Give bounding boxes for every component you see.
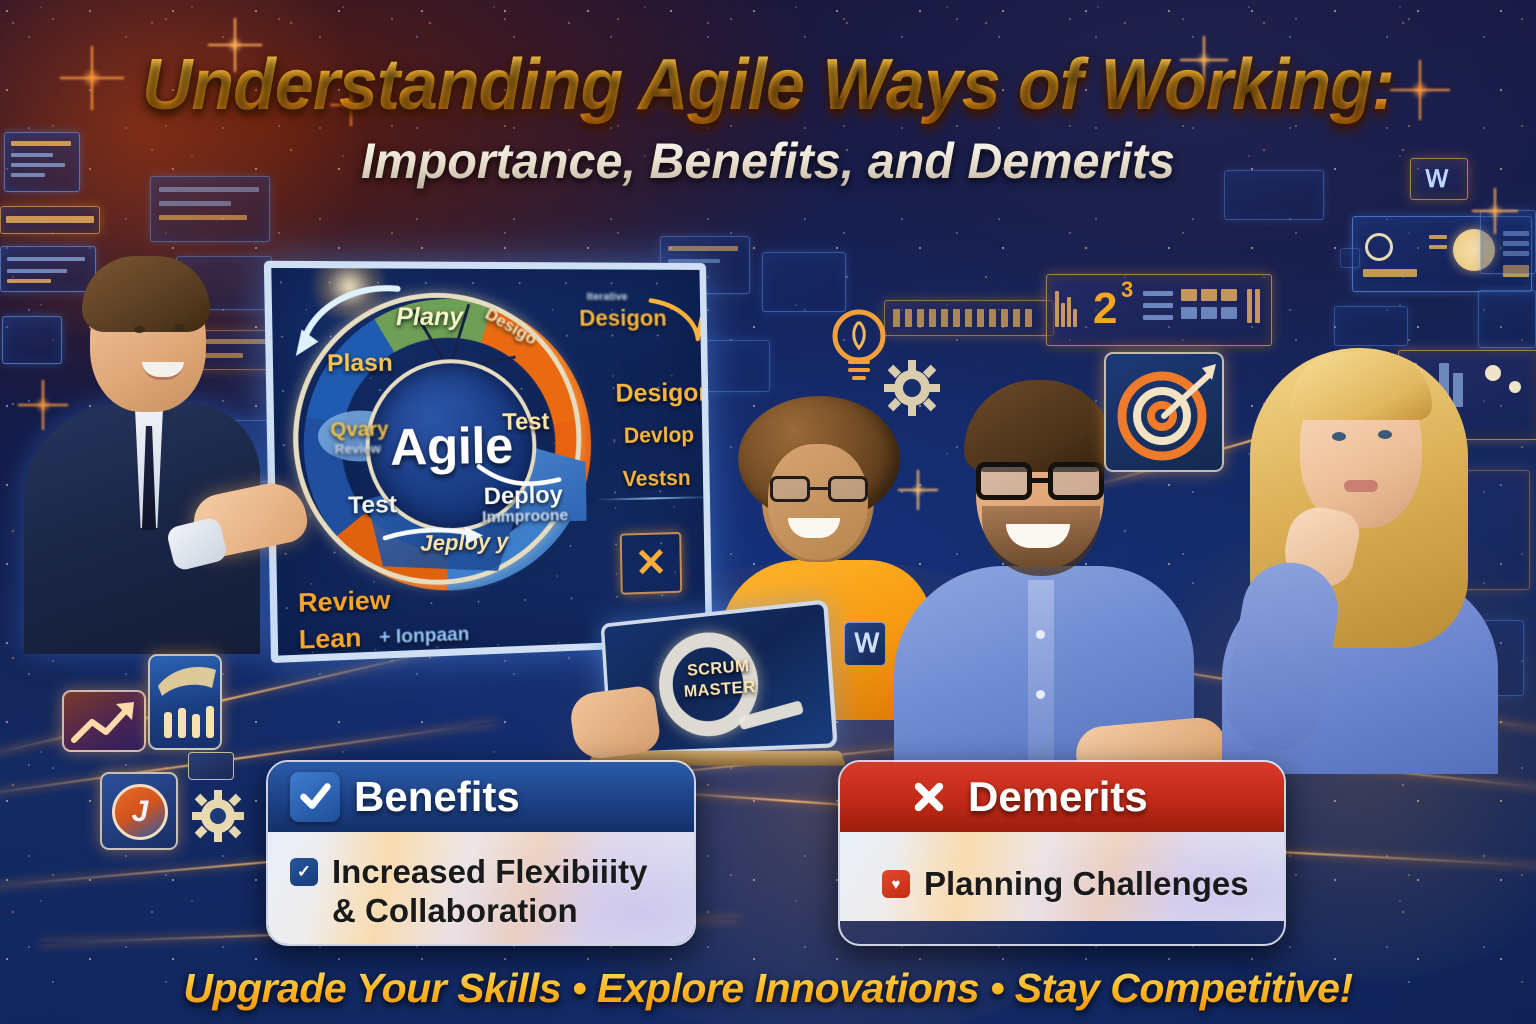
board-note-review: Review xyxy=(298,584,391,619)
demerits-card-text: Planning Challenges xyxy=(924,864,1249,903)
checkmark-icon xyxy=(290,772,340,822)
wheel-label-plasn: Plasn xyxy=(327,349,393,378)
blonde-lips xyxy=(1344,480,1378,492)
man-hair xyxy=(964,380,1114,472)
call-to-action-banner: Upgrade Your Skills • Explore Innovation… xyxy=(0,965,1536,1012)
presenter-person xyxy=(30,222,280,652)
title-block: Understanding Agile Ways of Working: Imp… xyxy=(0,44,1536,190)
demerits-card-title: Demerits xyxy=(968,773,1148,821)
blonde-eye xyxy=(1378,430,1392,439)
check-badge-icon: ✓ xyxy=(290,858,318,886)
wheel-label-improve: Immproone xyxy=(482,507,568,527)
target-tile[interactable] xyxy=(1104,352,1224,472)
blonde-fringe xyxy=(1290,352,1432,420)
wheel-label-plany: Plany xyxy=(396,303,464,332)
wheel-label-review-bubble: Qvary xyxy=(330,418,389,442)
benefits-card-text: Increased Flexibiiity & Collaboration xyxy=(332,852,647,930)
presenter-eye xyxy=(174,324,185,331)
agile-cycle-wheel[interactable]: Agile Plany Desigo Test Plasn Qvary Revi… xyxy=(291,293,598,608)
benefits-line-2: & Collaboration xyxy=(332,891,647,930)
x-mark-icon xyxy=(904,772,954,822)
man-glasses xyxy=(976,462,1104,500)
wheel-label-jeploy: Jeploy y xyxy=(420,529,509,557)
analytics-tile[interactable] xyxy=(148,654,222,750)
woman-face-overlay xyxy=(768,444,868,560)
warning-badge-icon: ♥ xyxy=(882,870,910,898)
bg-panel xyxy=(1480,210,1536,274)
poster-canvas: 2 3 𝖶 xyxy=(0,0,1536,1024)
board-note-lean: Lean xyxy=(298,622,361,656)
demerits-card-header: Demerits xyxy=(840,762,1284,832)
team-member-woman-blonde xyxy=(1228,312,1498,762)
shirt-placket xyxy=(1028,580,1054,770)
benefits-card-title: Benefits xyxy=(354,773,520,821)
bg-panel xyxy=(762,252,846,312)
demerits-card[interactable]: Demerits ♥ Planning Challenges xyxy=(838,760,1286,946)
badge-small-tile xyxy=(188,752,234,780)
shirt-button xyxy=(1036,630,1045,639)
x-panel-icon: ✕ xyxy=(620,532,682,595)
board-note-iterative: Iterative xyxy=(587,291,628,303)
laptop-screen-text: SCRUM MASTER xyxy=(661,652,779,703)
laptop-holding-hand xyxy=(568,684,662,761)
blonde-eye xyxy=(1332,432,1346,441)
page-title: Understanding Agile Ways of Working: xyxy=(23,44,1513,126)
board-note-desigon: Desigon xyxy=(615,377,712,408)
wheel-label-test-right: Test xyxy=(502,408,549,437)
board-note-lean-suffix: + Ionpaan xyxy=(379,624,470,650)
presenter-eye xyxy=(134,326,145,333)
page-subtitle: Importance, Benefits, and Demerits xyxy=(23,132,1513,190)
hub-label: Agile xyxy=(389,415,513,476)
badge-tile[interactable]: J xyxy=(100,772,178,850)
bg-panel xyxy=(1340,248,1360,268)
board-swoosh-arrow xyxy=(646,293,712,348)
demerits-line-1: Planning Challenges xyxy=(924,864,1249,903)
benefits-line-1: Increased Flexibiiity xyxy=(332,852,647,891)
wheel-label-test-left: Test xyxy=(348,491,397,521)
shirt-logo-glyph: 𝖶 xyxy=(854,628,880,659)
benefits-card-body: ✓ Increased Flexibiiity & Collaboration xyxy=(268,832,694,946)
benefits-card-header: Benefits xyxy=(268,762,694,832)
badge-circle: J xyxy=(112,784,168,840)
dashboard-small-number: 3 xyxy=(1121,277,1133,303)
growth-chart-tile[interactable] xyxy=(62,690,146,752)
gear-icon xyxy=(884,360,940,416)
agile-whiteboard[interactable]: Agile Plany Desigo Test Plasn Qvary Revi… xyxy=(264,261,713,663)
gear-icon xyxy=(192,790,244,842)
presenter-hair xyxy=(82,256,210,332)
lightbulb-icon xyxy=(828,306,890,384)
shirt-button xyxy=(1036,690,1045,699)
woman-glasses xyxy=(770,476,868,502)
benefits-card[interactable]: Benefits ✓ Increased Flexibiiity & Colla… xyxy=(266,760,696,946)
demerits-card-body: ♥ Planning Challenges xyxy=(840,832,1284,921)
board-note-vestsn: Vestsn xyxy=(622,465,690,492)
board-note-devlop: Devlop xyxy=(624,422,695,449)
wheel-label-review-bubble-sub: Review xyxy=(335,441,381,457)
